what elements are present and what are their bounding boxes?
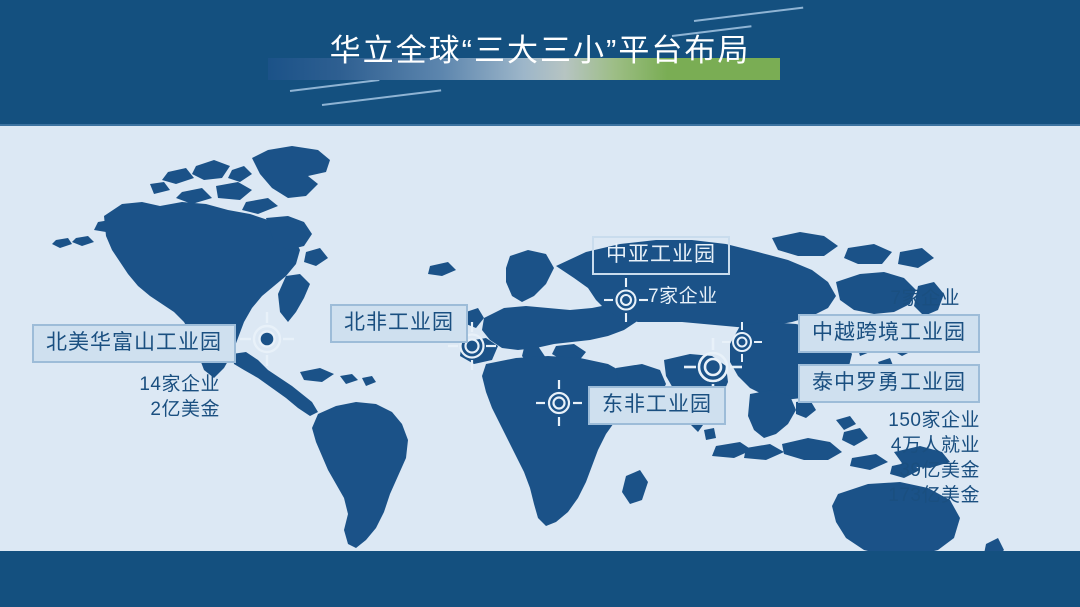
marker-crosshair-north-america xyxy=(240,312,294,366)
stat-southeast-asia: 150家企业 4万人就业 39亿美金 173亿美金 xyxy=(830,408,980,508)
marker-crosshair-east-africa xyxy=(536,380,582,426)
stat-north-america-line-1: 14家企业 xyxy=(90,372,220,397)
stat-north-america-line-2: 2亿美金 xyxy=(90,397,220,422)
label-central-asia-park[interactable]: 中亚工业园 xyxy=(592,236,730,275)
stat-southeast-asia-line-3: 39亿美金 xyxy=(830,458,980,483)
label-north-africa-park[interactable]: 北非工业园 xyxy=(330,304,468,343)
stat-central-asia: 7家企业 xyxy=(648,284,718,309)
label-thai-china-rayong-park[interactable]: 泰中罗勇工业园 xyxy=(798,364,980,403)
stat-north-america: 14家企业 2亿美金 xyxy=(90,372,220,422)
stat-southeast-asia-line-4: 173亿美金 xyxy=(830,483,980,508)
label-china-vietnam-park[interactable]: 中越跨境工业园 xyxy=(798,314,980,353)
marker-crosshair-central-asia xyxy=(604,278,648,322)
stat-southeast-asia-line-1: 150家企业 xyxy=(830,408,980,433)
stat-southeast-asia-line-2: 4万人就业 xyxy=(830,433,980,458)
label-east-africa-park[interactable]: 东非工业园 xyxy=(588,386,726,425)
slide-root: 华立全球“三大三小”平台布局 xyxy=(0,0,1080,607)
page-title: 华立全球“三大三小”平台布局 xyxy=(0,25,1080,70)
footer-band xyxy=(0,551,1080,607)
stat-china-vietnam: 7家企业 xyxy=(880,286,960,311)
map-content-area: 北美华富山工业园 14家企业 2亿美金 北非工业园 中亚工业园 7家企业 东非工… xyxy=(0,126,1080,551)
label-north-america-park[interactable]: 北美华富山工业园 xyxy=(32,324,236,363)
